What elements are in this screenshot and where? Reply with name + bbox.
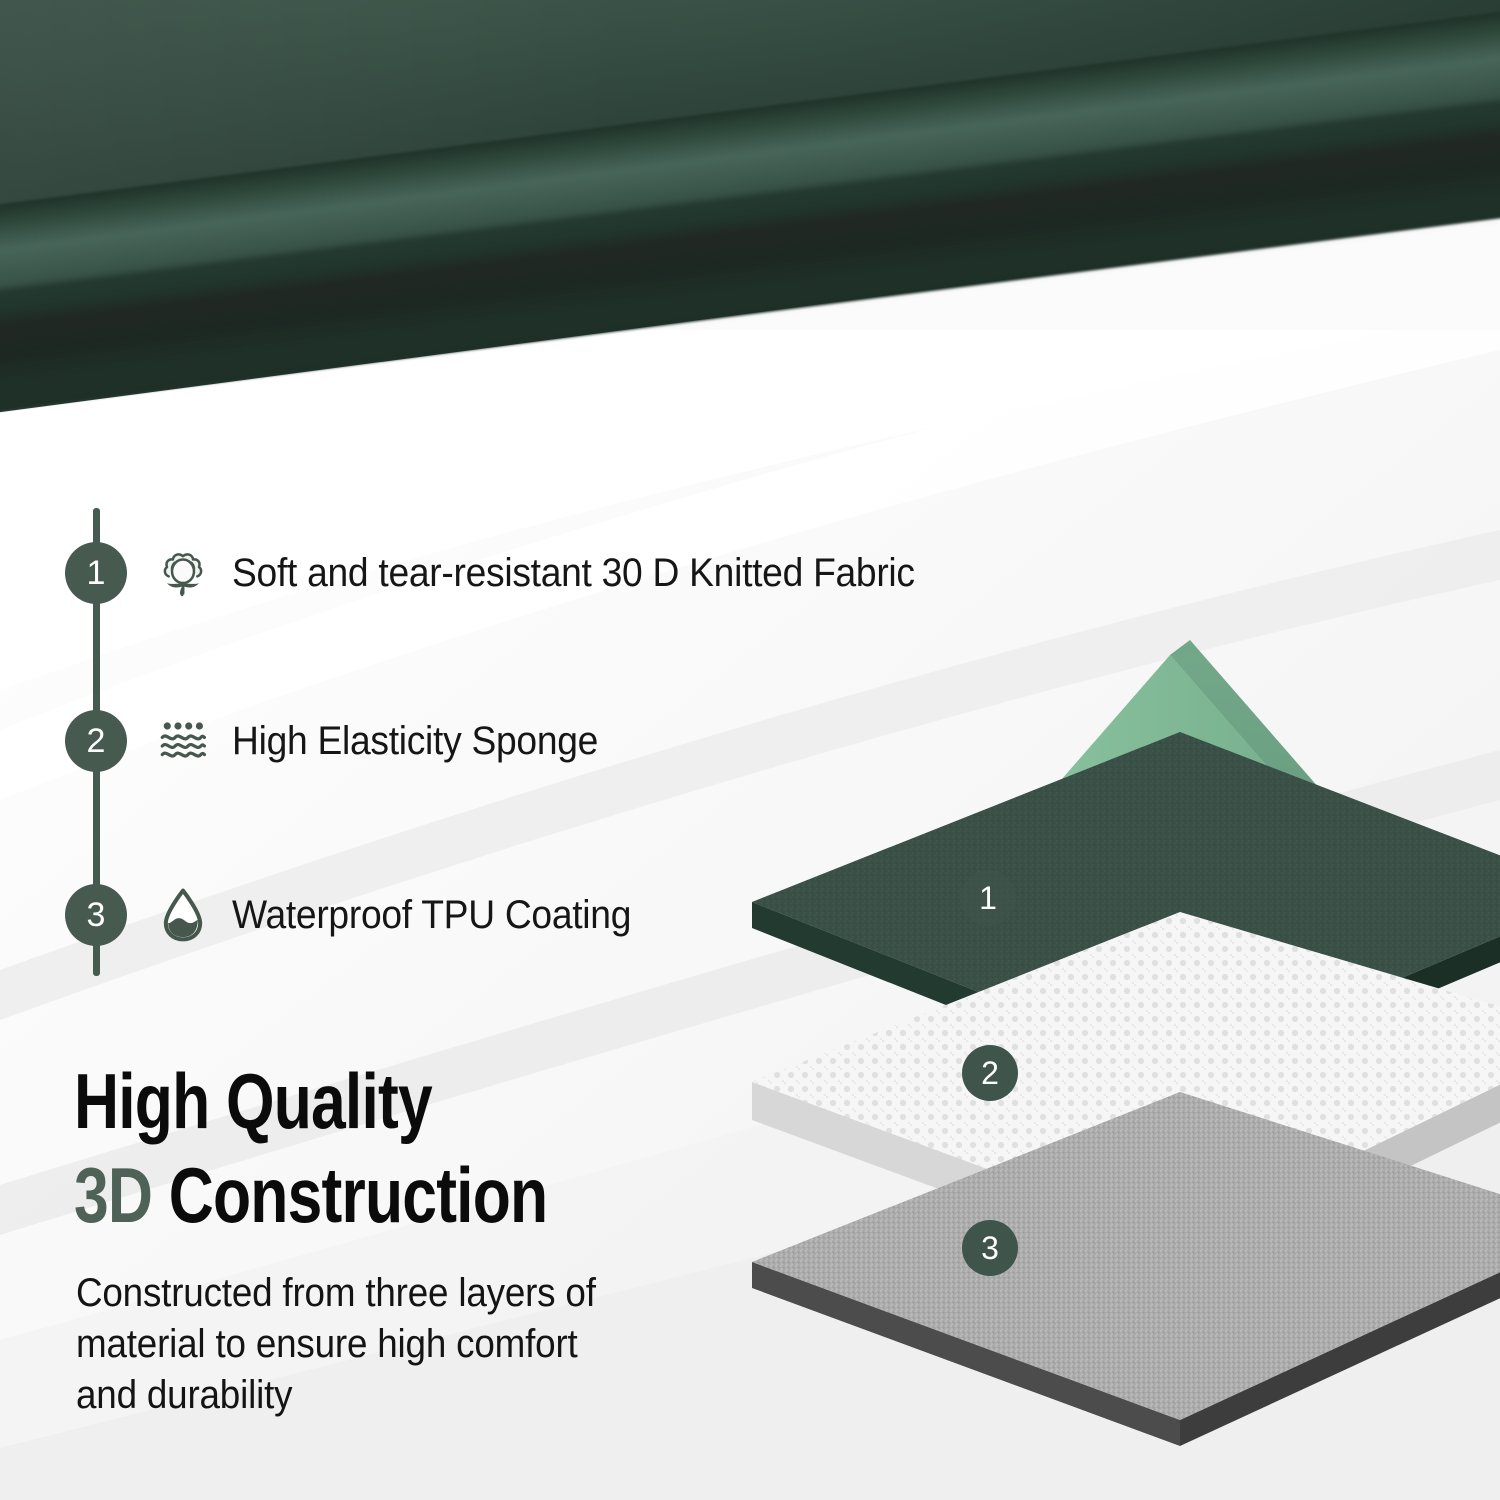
feature-label-2: High Elasticity Sponge [232, 719, 598, 764]
cotton-boll-icon [152, 542, 214, 604]
feature-badge-3: 3 [65, 884, 127, 946]
layer-stack-svg [700, 620, 1500, 1500]
layer-number-badge-1: 1 [960, 870, 1016, 926]
headline-rest: Construction [152, 1151, 547, 1239]
feature-badge-2: 2 [65, 710, 127, 772]
sponge-waves-icon [152, 710, 214, 772]
headline-line-1: High Quality [74, 1062, 634, 1142]
headline-accent-3d: 3D [74, 1151, 152, 1239]
layer-stack-diagram: 1 2 3 [700, 620, 1500, 1500]
headline-line-2: 3D Construction [74, 1156, 634, 1236]
layer-number-badge-2: 2 [962, 1045, 1018, 1101]
feature-item-3[interactable]: 3 Waterproof TPU Coating [0, 872, 661, 958]
layer-number-badge-3: 3 [962, 1220, 1018, 1276]
body-paragraph: Constructed from three layers of materia… [76, 1268, 646, 1422]
feature-label-1: Soft and tear-resistant 30 D Knitted Fab… [232, 551, 915, 596]
feature-label-3: Waterproof TPU Coating [232, 893, 631, 938]
feature-badge-1: 1 [65, 542, 127, 604]
feature-item-2[interactable]: 2 High Elasticity Sponge [0, 698, 626, 784]
infographic-canvas: 1 Soft and tear-resistant 30 D Kn [0, 0, 1500, 1500]
headline-block: High Quality 3D Construction [74, 1062, 774, 1235]
water-droplet-icon [152, 884, 214, 946]
feature-item-1[interactable]: 1 Soft and tear-resistant 30 D Kn [0, 530, 966, 616]
